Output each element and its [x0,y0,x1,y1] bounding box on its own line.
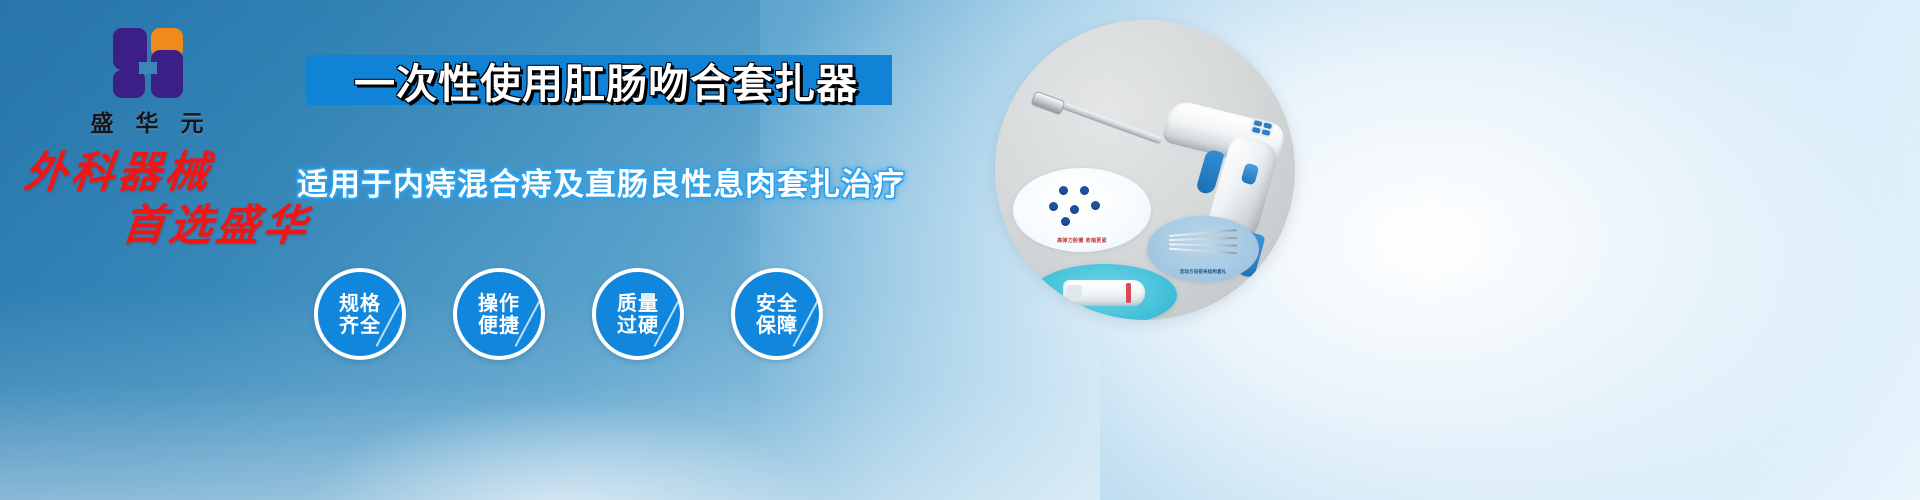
page-title: 一次性使用肛肠吻合套扎器 [326,51,886,109]
badge-line-2: 保障 [756,314,798,336]
tube-icon [1063,280,1145,306]
feature-badge-group: 规格 齐全 操作 便捷 质量 过硬 安全 保障 [310,268,870,368]
background-glow [300,400,820,500]
feature-badge-specs[interactable]: 规格 齐全 [314,268,406,360]
inset-photo-needles: 活动方向钳夹结构套扎 [1147,216,1259,282]
slogan-line-2: 首选盛华 [12,205,347,248]
badge-line-1: 质量 [617,292,659,314]
brand-logo[interactable]: 盛 华 元 [62,26,232,138]
slogan-calligraphy: 外科器械 首选盛华 [14,152,344,248]
brand-name: 盛 华 元 [62,104,232,138]
feature-badge-safety[interactable]: 安全 保障 [731,268,823,360]
badge-line-2: 过硬 [617,314,659,336]
badge-line-1: 安全 [756,292,798,314]
needles-icon [1169,230,1239,258]
rubber-rings-icon [1049,186,1115,226]
product-photo: 高弹力胶圈 收缩更紧 活动方向钳夹结构套扎 [995,20,1295,320]
badge-line-2: 齐全 [339,314,381,336]
inset-needles-caption: 活动方向钳夹结构套扎 [1147,269,1259,275]
feature-badge-operation[interactable]: 操作 便捷 [453,268,545,360]
feature-badge-quality[interactable]: 质量 过硬 [592,268,684,360]
inset-photo-rings: 高弹力胶圈 收缩更紧 [1013,168,1151,252]
square-blocks-logo-icon [105,26,189,100]
inset-photo-tube [1031,264,1177,320]
page-subtitle: 适用于内痔混合痔及直肠良性息肉套扎治疗 [296,158,906,204]
inset-rings-caption: 高弹力胶圈 收缩更紧 [1013,237,1151,244]
badge-line-1: 操作 [478,292,520,314]
badge-line-2: 便捷 [478,314,520,336]
device-tip [1030,90,1065,115]
badge-line-1: 规格 [339,292,381,314]
